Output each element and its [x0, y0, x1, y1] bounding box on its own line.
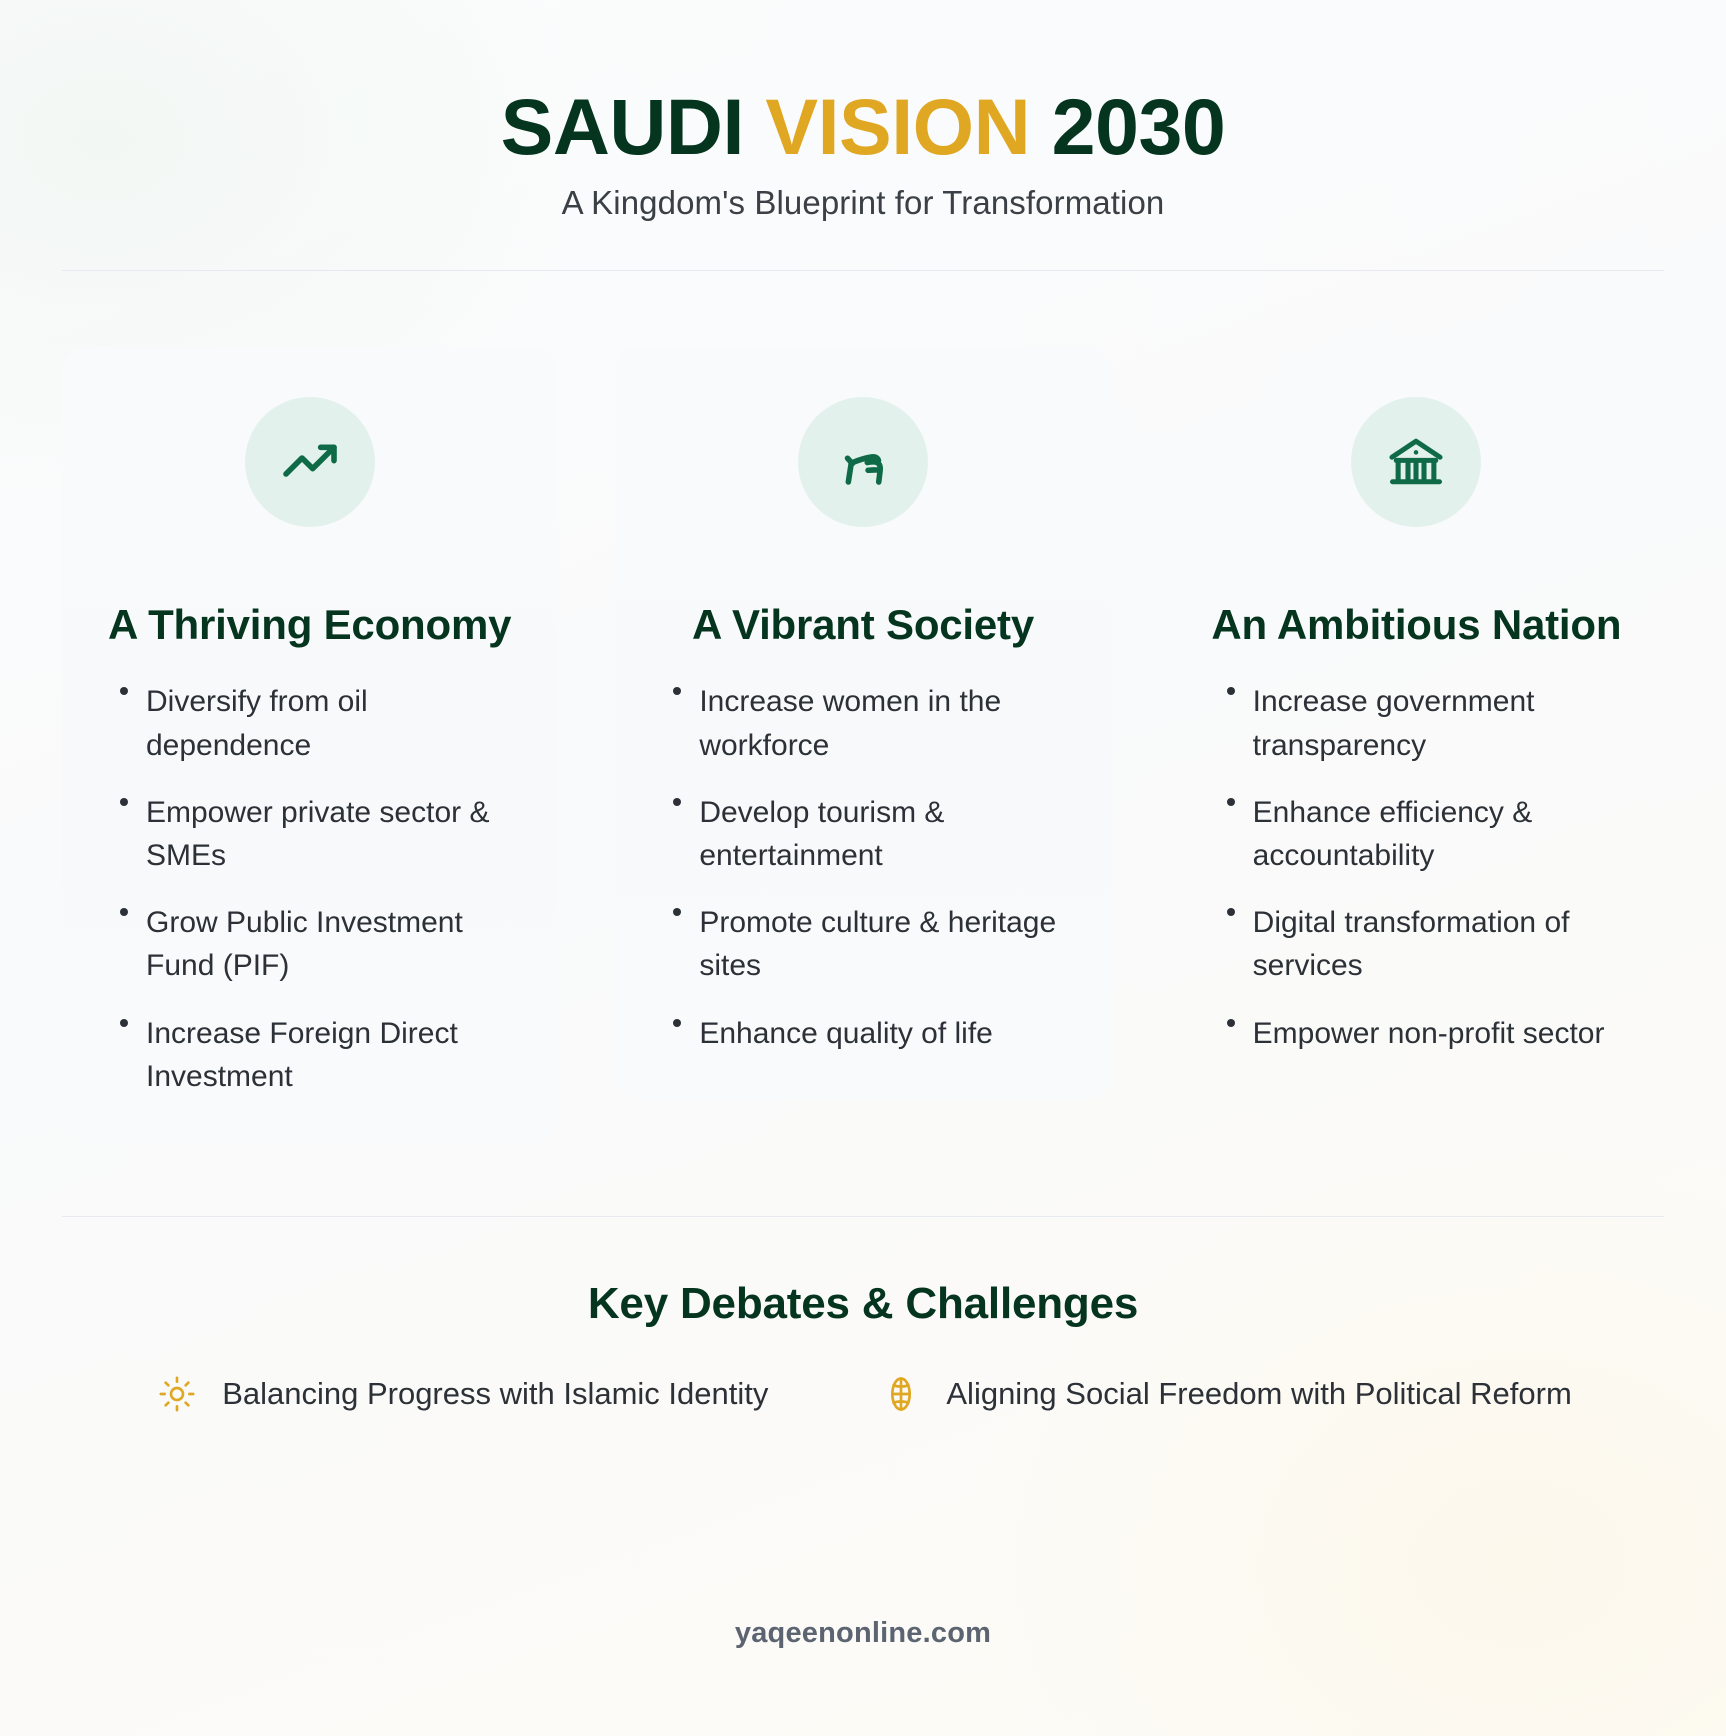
section-divider	[62, 1216, 1664, 1217]
government-building-icon	[1351, 397, 1481, 527]
sun-icon	[154, 1371, 200, 1417]
list-item: Increase government transparency	[1219, 680, 1628, 766]
site-url[interactable]: yaqeenonline.com	[62, 1617, 1664, 1650]
list-item: Increase women in the workforce	[665, 680, 1074, 766]
debates-section: Key Debates & Challenges	[62, 1279, 1664, 1417]
infographic-page: SAUDI VISION 2030 A Kingdom's Blueprint …	[0, 0, 1726, 1736]
list-item: Develop tourism & entertainment	[665, 791, 1074, 877]
list-item: Empower private sector & SMEs	[112, 791, 521, 877]
pillar-bullet-list: Increase government transparency Enhance…	[1205, 680, 1628, 1054]
pillar-bullet-list: Diversify from oil dependence Empower pr…	[98, 680, 521, 1098]
pillar-card-society[interactable]: A Vibrant Society Increase women in the …	[615, 347, 1110, 1099]
pillar-title: A Vibrant Society	[692, 599, 1034, 650]
footer: yaqeenonline.com	[62, 1617, 1664, 1736]
debate-label: Aligning Social Freedom with Political R…	[946, 1376, 1571, 1412]
header: SAUDI VISION 2030 A Kingdom's Blueprint …	[62, 0, 1664, 222]
list-item: Digital transformation of services	[1219, 901, 1628, 987]
pillar-card-economy[interactable]: A Thriving Economy Diversify from oil de…	[62, 347, 557, 1142]
debate-item-identity[interactable]: Balancing Progress with Islamic Identity	[154, 1371, 768, 1417]
debates-title: Key Debates & Challenges	[62, 1279, 1664, 1329]
title-part-one: SAUDI	[501, 82, 766, 171]
page-title: SAUDI VISION 2030	[62, 86, 1664, 168]
pillar-title: A Thriving Economy	[108, 599, 511, 650]
list-item: Empower non-profit sector	[1219, 1012, 1628, 1055]
pillar-bullet-list: Increase women in the workforce Develop …	[651, 680, 1074, 1054]
title-part-two: 2030	[1030, 82, 1225, 171]
community-hands-icon	[798, 397, 928, 527]
trending-up-icon	[245, 397, 375, 527]
page-subtitle: A Kingdom's Blueprint for Transformation	[62, 184, 1664, 222]
pillar-card-nation[interactable]: An Ambitious Nation Increase government …	[1169, 347, 1664, 1099]
debates-row: Balancing Progress with Islamic Identity…	[62, 1371, 1664, 1417]
list-item: Grow Public Investment Fund (PIF)	[112, 901, 521, 987]
title-accent-word: VISION	[765, 82, 1030, 171]
list-item: Promote culture & heritage sites	[665, 901, 1074, 987]
pillars-row: A Thriving Economy Diversify from oil de…	[62, 347, 1664, 1142]
list-item: Enhance efficiency & accountability	[1219, 791, 1628, 877]
globe-icon	[878, 1371, 924, 1417]
list-item: Enhance quality of life	[665, 1012, 1074, 1055]
header-divider	[62, 270, 1664, 271]
debate-label: Balancing Progress with Islamic Identity	[222, 1376, 768, 1412]
debate-item-reform[interactable]: Aligning Social Freedom with Political R…	[878, 1371, 1571, 1417]
pillar-title: An Ambitious Nation	[1211, 599, 1621, 650]
list-item: Increase Foreign Direct Investment	[112, 1012, 521, 1098]
list-item: Diversify from oil dependence	[112, 680, 521, 766]
